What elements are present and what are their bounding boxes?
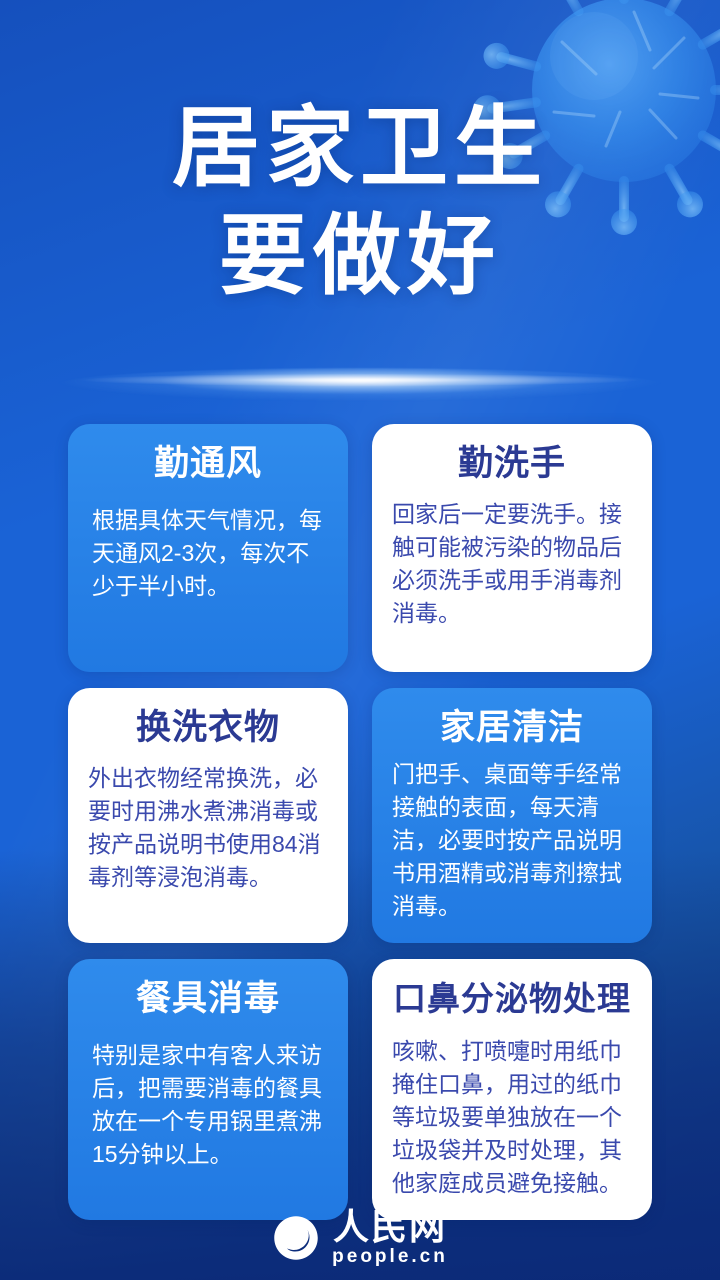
tip-card-body: 门把手、桌面等手经常接触的表面，每天清洁，必要时按产品说明书用酒精或消毒剂擦拭消… xyxy=(392,758,632,923)
poster-root: 居家卫生 要做好 勤通风 根据具体天气情况，每天通风2-3次，每次不少于半小时。… xyxy=(0,0,720,1280)
tip-card-title: 勤通风 xyxy=(154,442,262,486)
footer-brand-cn: 人民网 xyxy=(333,1208,447,1246)
tip-card-secretion-handling[interactable]: 口鼻分泌物处理 咳嗽、打喷嚏时用纸巾掩住口鼻，用过的纸巾等垃圾要单独放在一个垃圾… xyxy=(372,959,652,1220)
tip-card-body: 回家后一定要洗手。接触可能被污染的物品后必须洗手或用手消毒剂消毒。 xyxy=(392,494,632,630)
people-cn-globe-icon xyxy=(272,1214,320,1262)
title-line-2: 要做好 xyxy=(0,204,720,312)
tip-card-handwashing[interactable]: 勤洗手 回家后一定要洗手。接触可能被污染的物品后必须洗手或用手消毒剂消毒。 xyxy=(372,424,652,672)
tip-card-title: 换洗衣物 xyxy=(136,706,280,750)
tip-card-ventilation[interactable]: 勤通风 根据具体天气情况，每天通风2-3次，每次不少于半小时。 xyxy=(68,424,348,672)
title-divider-glow xyxy=(55,368,665,402)
tip-card-title: 家居清洁 xyxy=(440,706,584,750)
tip-card-body: 根据具体天气情况，每天通风2-3次，每次不少于半小时。 xyxy=(88,494,328,603)
tips-grid: 勤通风 根据具体天气情况，每天通风2-3次，每次不少于半小时。 勤洗手 回家后一… xyxy=(68,424,652,1220)
tip-card-laundry[interactable]: 换洗衣物 外出衣物经常换洗，必要时用沸水煮沸消毒或按产品说明书使用84消毒剂等浸… xyxy=(68,688,348,943)
footer-brand-en: people.cn xyxy=(332,1246,448,1268)
poster-title: 居家卫生 要做好 xyxy=(0,96,720,312)
tip-card-title: 勤洗手 xyxy=(458,442,566,486)
tip-card-title: 餐具消毒 xyxy=(136,977,280,1021)
tip-card-body: 咳嗽、打喷嚏时用纸巾掩住口鼻，用过的纸巾等垃圾要单独放在一个垃圾袋并及时处理，其… xyxy=(392,1029,632,1200)
tip-card-body: 外出衣物经常换洗，必要时用沸水煮沸消毒或按产品说明书使用84消毒剂等浸泡消毒。 xyxy=(88,758,328,894)
title-line-1: 居家卫生 xyxy=(0,96,720,204)
footer-logo[interactable]: 人民网 people.cn xyxy=(0,1196,720,1280)
tip-card-body: 特别是家中有客人来访后，把需要消毒的餐具放在一个专用锅里煮沸15分钟以上。 xyxy=(88,1029,328,1171)
tip-card-tableware-disinfection[interactable]: 餐具消毒 特别是家中有客人来访后，把需要消毒的餐具放在一个专用锅里煮沸15分钟以… xyxy=(68,959,348,1220)
tip-card-home-cleaning[interactable]: 家居清洁 门把手、桌面等手经常接触的表面，每天清洁，必要时按产品说明书用酒精或消… xyxy=(372,688,652,943)
tip-card-title: 口鼻分泌物处理 xyxy=(393,977,631,1021)
